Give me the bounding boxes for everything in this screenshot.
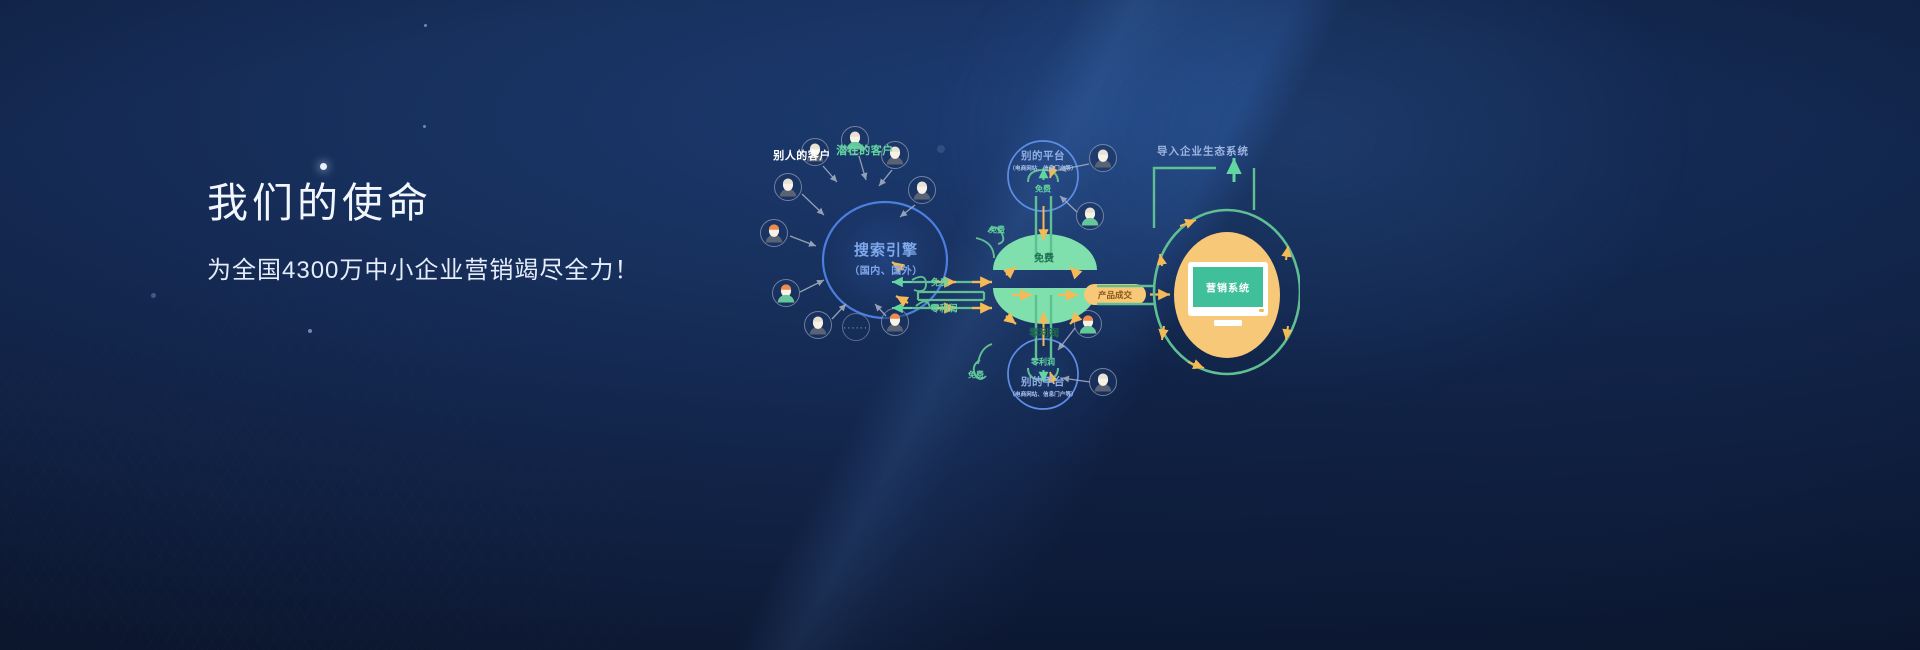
- label-import-ecosystem: 导入企业生态系统: [1157, 144, 1249, 159]
- page-subtitle: 为全国4300万中小企业营销竭尽全力！: [207, 255, 639, 286]
- hub-zeroprofit-label: 零利润: [1029, 325, 1059, 340]
- particle-dot: [424, 24, 427, 27]
- placeholder-dots: ······: [844, 324, 869, 333]
- ecosystem-import-pipes: [1154, 168, 1254, 228]
- label-potential-customers: 潜在的客户: [836, 142, 894, 158]
- search-engine-subtitle: （国内、国外）: [849, 262, 923, 277]
- marketing-ecosystem-diagram: 别人的客户 潜在的客户 导入企业生态系统 搜索引擎 （国内、国外） 别的平台 （…: [740, 120, 1300, 420]
- platform-bottom-label: 别的平台 （电商网站、信息门户等）: [1009, 374, 1076, 398]
- deal-pill-label: 产品成交: [1098, 289, 1132, 301]
- platform-bottom-subtitle: （电商网站、信息门户等）: [1009, 390, 1076, 398]
- particle-dot: [320, 163, 327, 170]
- platform-bottom-title: 别的平台: [1021, 376, 1065, 388]
- page-title: 我们的使命: [207, 178, 639, 229]
- flow-zeroprofit-left: 零利润: [930, 302, 957, 315]
- search-engine-label: 搜索引擎 （国内、国外）: [849, 239, 923, 277]
- platform-top-title: 别的平台: [1021, 150, 1065, 162]
- flow-free-lower: 免费: [968, 370, 984, 381]
- particle-dot: [151, 293, 156, 298]
- platform-top-label: 别的平台 （电商网站、信息门户等）: [1009, 148, 1076, 172]
- particle-dot: [308, 329, 312, 333]
- flow-free-upper: 免费: [989, 225, 1005, 236]
- flow-free-left: 免费: [931, 276, 949, 289]
- particle-dot: [423, 125, 426, 128]
- center-hub: [993, 234, 1097, 324]
- platform-top-subtitle: （电商网站、信息门户等）: [1009, 164, 1076, 172]
- hero-copy: 我们的使命 为全国4300万中小企业营销竭尽全力！: [207, 178, 639, 286]
- hub-free-label: 免费: [1034, 250, 1054, 265]
- hero-banner: 我们的使命 为全国4300万中小企业营销竭尽全力！: [0, 0, 1920, 650]
- search-engine-title: 搜索引擎: [854, 242, 918, 259]
- platform-top-flow: 免费: [1035, 184, 1051, 195]
- platform-bottom-flow: 零利润: [1031, 357, 1055, 368]
- marketing-system-label: 营销系统: [1206, 280, 1250, 295]
- monitor-stand: [1214, 320, 1242, 326]
- label-others-customers: 别人的客户: [773, 147, 831, 163]
